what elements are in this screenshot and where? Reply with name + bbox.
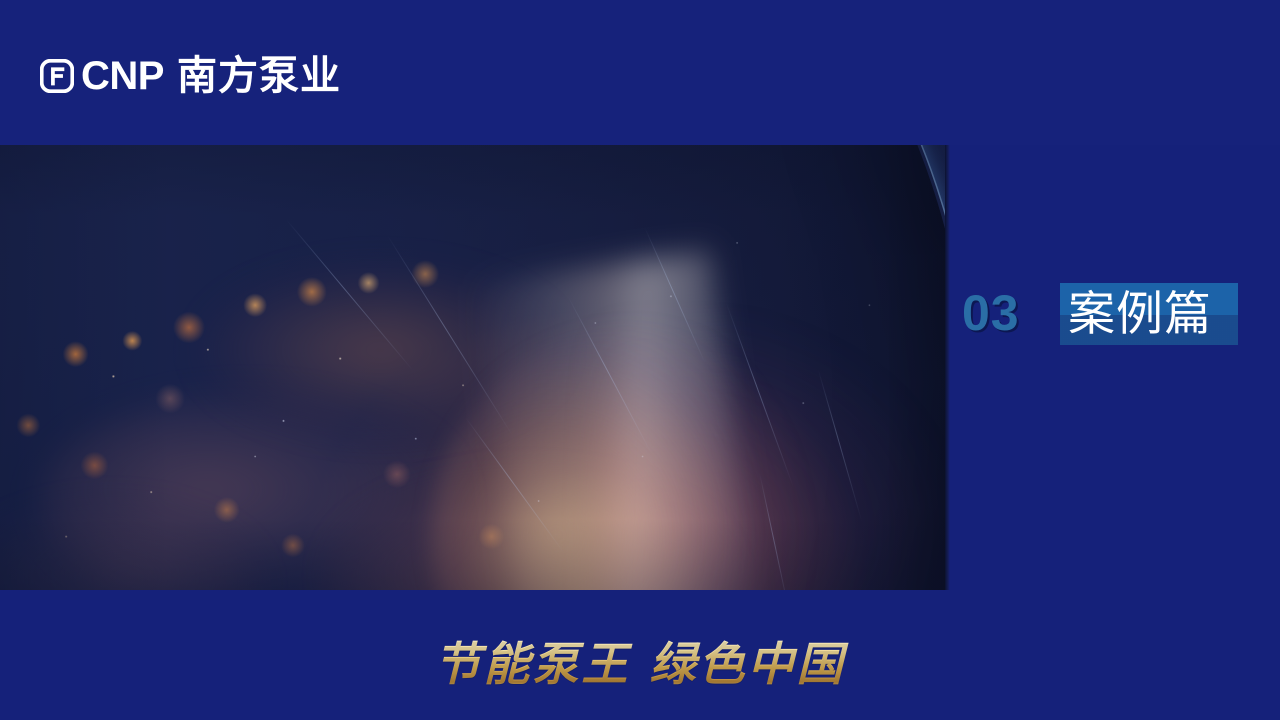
slide-header: CNP 南方泵业 — [0, 0, 1280, 145]
photo-vignette — [0, 145, 945, 590]
section-title: 案例篇 — [1068, 282, 1248, 348]
footer-slogan: 节能泵王 绿色中国 — [0, 636, 1280, 692]
logo-chinese-text: 南方泵业 — [177, 56, 341, 96]
earth-from-space-photo — [0, 145, 945, 590]
company-logo: CNP 南方泵业 — [40, 52, 341, 100]
logo-latin-text: CNP — [81, 56, 164, 96]
photo-divider — [945, 145, 950, 590]
section-number: 03 — [962, 288, 1020, 338]
cnp-pump-mark-icon — [40, 59, 74, 93]
slide-root: CNP 南方泵业 03 案例篇 节能泵王 绿色中国 — [0, 0, 1280, 720]
